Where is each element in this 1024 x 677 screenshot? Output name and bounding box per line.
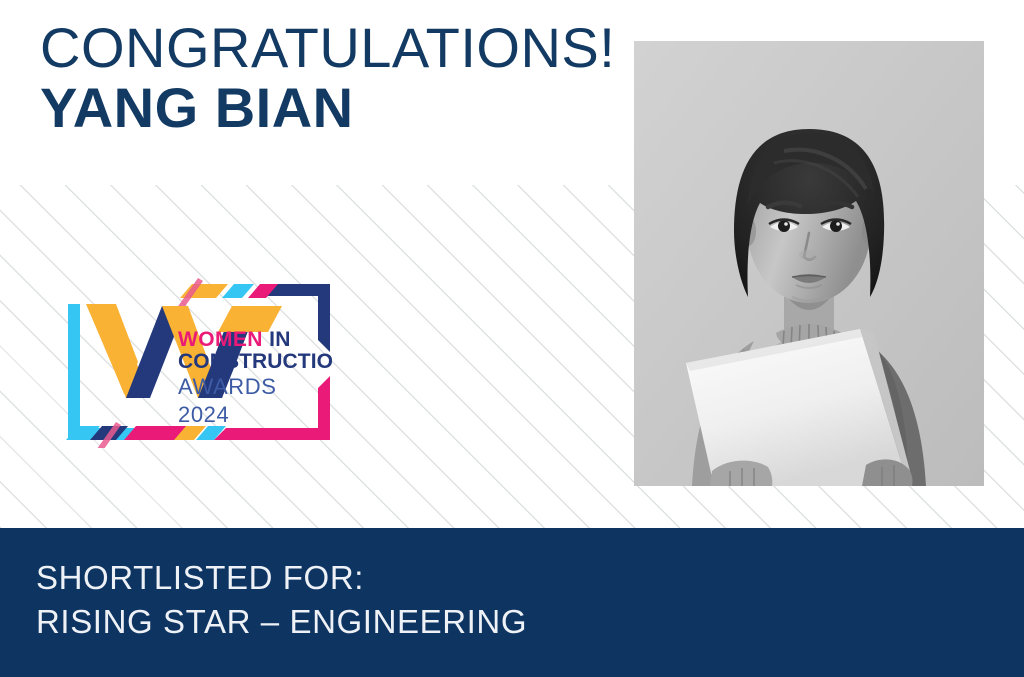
svg-text:2024: 2024 bbox=[178, 402, 229, 427]
shortlist-banner: SHORTLISTED FOR: RISING STAR – ENGINEERI… bbox=[0, 528, 1024, 677]
page-title: CONGRATULATIONS! YANG BIAN bbox=[40, 18, 640, 140]
recipient-photo bbox=[634, 41, 984, 486]
logo-text: WOMEN IN CONSTRUCTION AWARDS 2024 bbox=[178, 328, 332, 427]
svg-text:AWARDS: AWARDS bbox=[178, 374, 277, 399]
award-announcement-graphic: CONGRATULATIONS! YANG BIAN bbox=[0, 0, 1024, 677]
award-logo: WOMEN IN CONSTRUCTION AWARDS 2024 bbox=[66, 276, 332, 448]
svg-text:CONSTRUCTION: CONSTRUCTION bbox=[178, 350, 332, 373]
shortlist-text: SHORTLISTED FOR: RISING STAR – ENGINEERI… bbox=[36, 556, 736, 644]
shortlisted-for-label: SHORTLISTED FOR: bbox=[36, 556, 736, 600]
recipient-name: YANG BIAN bbox=[40, 77, 640, 140]
shortlist-category: RISING STAR – ENGINEERING bbox=[36, 600, 736, 644]
svg-text:WOMEN IN: WOMEN IN bbox=[178, 328, 291, 351]
congratulations-heading: CONGRATULATIONS! bbox=[40, 18, 640, 77]
